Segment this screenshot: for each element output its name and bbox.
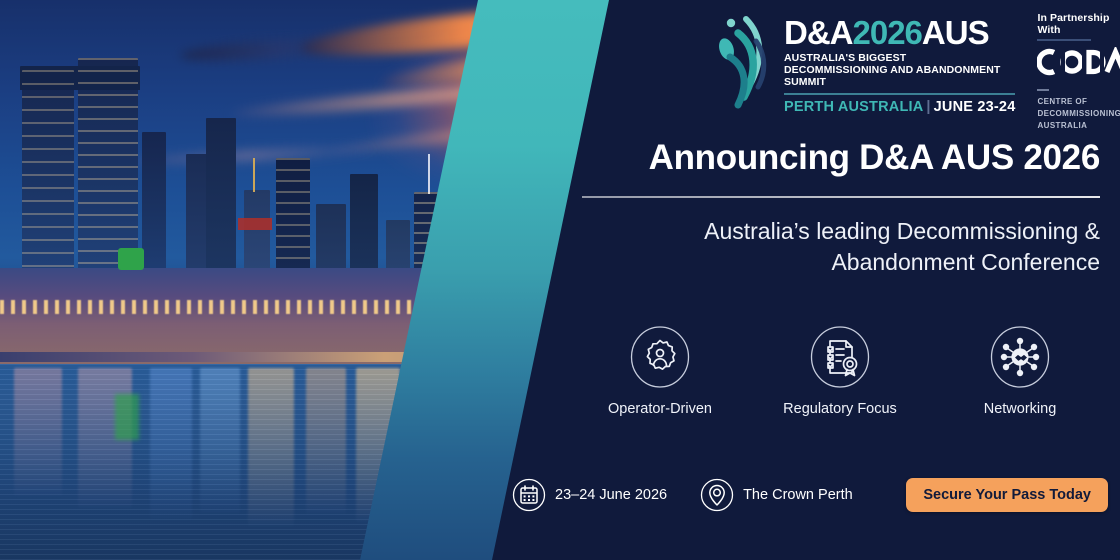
subtitle-line-1: Australia’s leading Decommissioning &: [704, 218, 1100, 244]
logo-divider: [784, 93, 1015, 95]
partner-divider: [1037, 39, 1091, 41]
partner-intro: In Partnership With: [1037, 12, 1120, 36]
partner-full-name: CENTRE OF DECOMMISSIONING AUSTRALIA: [1037, 96, 1120, 132]
event-logo: D&A2026AUS AUSTRALIA'S BIGGEST DECOMMISS…: [716, 8, 1015, 115]
feature-item-networking: Networking: [936, 326, 1104, 417]
secure-pass-button[interactable]: Secure Your Pass Today: [906, 478, 1108, 512]
feature-item-operator-driven: Operator-Driven: [576, 326, 744, 417]
logo-dates: JUNE 23-24: [934, 99, 1016, 115]
feature-label: Regulatory Focus: [783, 401, 897, 417]
partner-logo-block: In Partnership With CENTRE OF DECOMMISSI…: [1037, 8, 1120, 132]
gear-person-icon: [629, 326, 691, 388]
feature-item-regulatory-focus: Regulatory Focus: [756, 326, 924, 417]
brand-logo-row: D&A2026AUS AUSTRALIA'S BIGGEST DECOMMISS…: [716, 8, 1108, 120]
headline-divider: [582, 196, 1100, 198]
logo-tagline: AUSTRALIA'S BIGGEST DECOMMISSIONING AND …: [784, 53, 1002, 88]
checklist-seal-icon: [809, 326, 871, 388]
calendar-icon: [512, 478, 546, 512]
footer-bar: 23–24 June 2026 The Crown Perth Secure Y…: [512, 478, 1108, 512]
event-date-label: 23–24 June 2026: [555, 487, 667, 503]
page-title: Announcing D&A AUS 2026: [580, 138, 1100, 178]
logo-title-year: 2026: [853, 14, 922, 51]
event-venue: The Crown Perth: [700, 478, 853, 512]
coda-logo-icon: [1037, 47, 1120, 77]
logo-separator: |: [923, 99, 933, 115]
logo-location: PERTH AUSTRALIA: [784, 99, 923, 115]
event-date: 23–24 June 2026: [512, 478, 667, 512]
feature-label: Operator-Driven: [608, 401, 712, 417]
location-pin-icon: [700, 478, 734, 512]
feature-label: Networking: [984, 401, 1057, 417]
logo-title-region: AUS: [922, 14, 989, 51]
page-subtitle: Australia’s leading Decommissioning & Ab…: [580, 216, 1100, 278]
promo-banner: D&A2026AUS AUSTRALIA'S BIGGEST DECOMMISS…: [0, 0, 1120, 560]
logo-title-main: D&A: [784, 14, 853, 51]
partner-divider-small: [1037, 89, 1049, 91]
event-venue-label: The Crown Perth: [743, 487, 853, 503]
network-handshake-icon: [989, 326, 1051, 388]
logo-title: D&A2026AUS: [784, 16, 1015, 49]
feature-list: Operator-Driven: [576, 326, 1104, 417]
swoosh-icon: [716, 13, 778, 109]
subtitle-line-2: Abandonment Conference: [831, 249, 1100, 275]
logo-place-dates: PERTH AUSTRALIA|JUNE 23-24: [784, 99, 1015, 115]
